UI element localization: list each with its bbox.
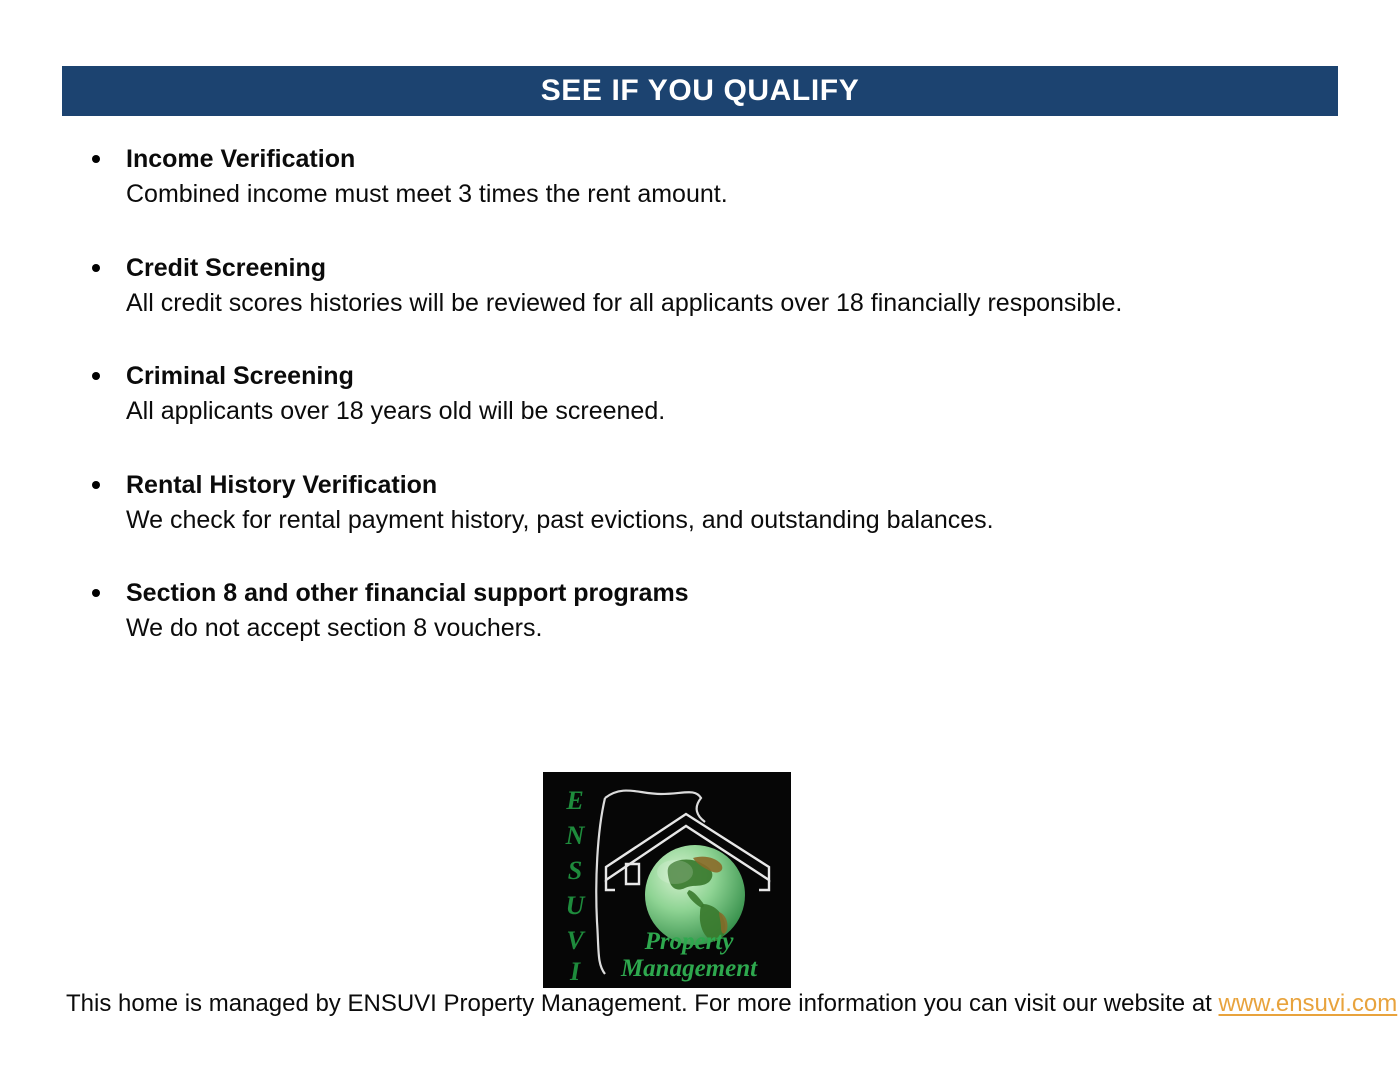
bullet-dot-icon	[92, 372, 100, 380]
footer-note: This home is managed by ENSUVI Property …	[66, 988, 1366, 1020]
list-item: Criminal Screening All applicants over 1…	[92, 360, 1342, 431]
criteria-heading: Income Verification	[126, 143, 1342, 176]
criteria-heading: Rental History Verification	[126, 469, 1342, 502]
svg-text:Property: Property	[644, 928, 735, 955]
svg-text:Management: Management	[620, 955, 758, 982]
list-item: Income Verification Combined income must…	[92, 143, 1342, 214]
svg-text:E: E	[565, 786, 583, 815]
svg-text:I: I	[569, 957, 581, 986]
svg-text:S: S	[568, 856, 582, 885]
ensuvi-logo: E N S U V I Property Management	[543, 772, 791, 988]
qualification-criteria-list: Income Verification Combined income must…	[92, 143, 1342, 648]
bullet-dot-icon	[92, 481, 100, 489]
svg-text:V: V	[566, 926, 586, 955]
criteria-detail: All credit scores histories will be revi…	[126, 285, 1342, 323]
ensuvi-website-link[interactable]: www.ensuvi.com	[1219, 990, 1398, 1017]
criteria-detail: We do not accept section 8 vouchers.	[126, 610, 1342, 648]
criteria-heading: Criminal Screening	[126, 360, 1342, 393]
svg-text:N: N	[565, 821, 586, 850]
page-header-banner: SEE IF YOU QUALIFY	[62, 66, 1338, 116]
list-item: Rental History Verification We check for…	[92, 469, 1342, 540]
criteria-heading: Credit Screening	[126, 252, 1342, 285]
criteria-detail: We check for rental payment history, pas…	[126, 502, 1342, 540]
criteria-detail: All applicants over 18 years old will be…	[126, 393, 1342, 431]
criteria-heading: Section 8 and other financial support pr…	[126, 577, 1342, 610]
svg-text:U: U	[566, 891, 586, 920]
criteria-detail: Combined income must meet 3 times the re…	[126, 176, 1342, 214]
bullet-dot-icon	[92, 155, 100, 163]
list-item: Credit Screening All credit scores histo…	[92, 252, 1342, 323]
list-item: Section 8 and other financial support pr…	[92, 577, 1342, 648]
bullet-dot-icon	[92, 589, 100, 597]
bullet-dot-icon	[92, 264, 100, 272]
page-title: SEE IF YOU QUALIFY	[541, 76, 860, 106]
footer-text-before: This home is managed by ENSUVI Property …	[66, 990, 1219, 1017]
